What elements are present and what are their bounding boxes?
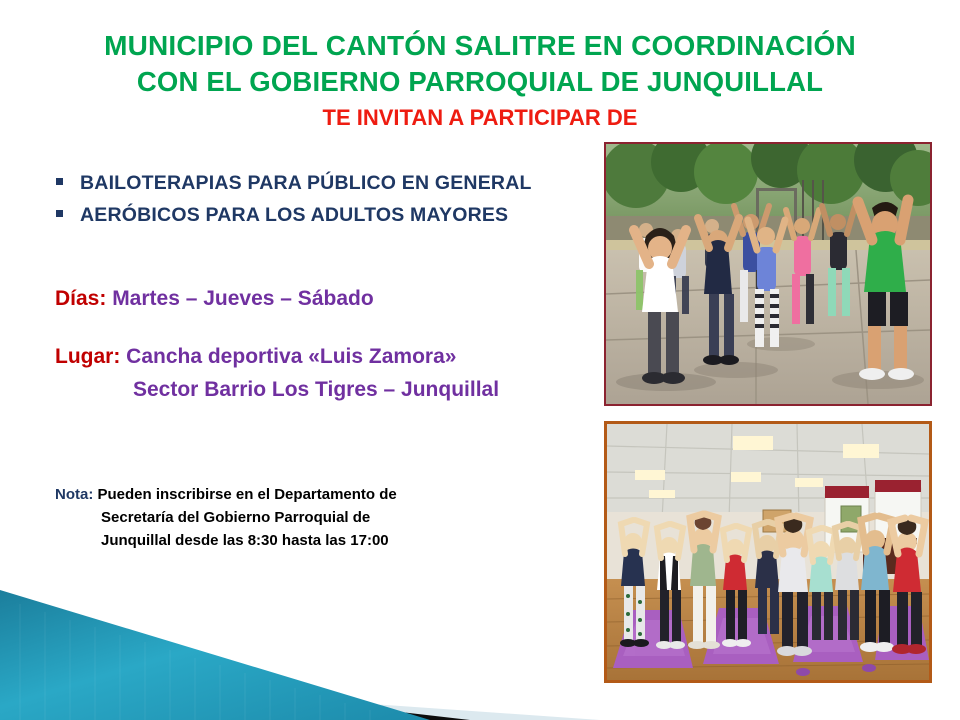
bottom-left-corner-triangles xyxy=(0,560,620,720)
place-row: Lugar: Cancha deportiva «Luis Zamora» xyxy=(55,341,595,374)
poster-subtitle: TE INVITAN A PARTICIPAR DE xyxy=(0,103,960,133)
light-stripe xyxy=(0,678,600,720)
teal-triangle xyxy=(0,590,430,720)
square-bullet-icon xyxy=(56,210,63,217)
indoor-seniors-aerobics-photo xyxy=(604,421,932,683)
poster-canvas: MUNICIPIO DEL CANTÓN SALITRE EN COORDINA… xyxy=(0,0,960,720)
place-row-secondary: Sector Barrio Los Tigres – Junquillal xyxy=(55,374,595,407)
event-details: Días: Martes – Jueves – Sábado Lugar: Ca… xyxy=(55,283,595,407)
note-line-1: Pueden inscribirse en el Departamento de xyxy=(93,486,396,503)
outdoor-dance-class-photo xyxy=(604,142,932,406)
title-line-2: CON EL GOBIERNO PARROQUIAL DE JUNQUILLAL xyxy=(0,64,960,100)
square-bullet-icon xyxy=(56,178,63,185)
note-line-2-row: Secretaría del Gobierno Parroquial de xyxy=(55,506,525,529)
activity-label: BAILOTERAPIAS PARA PÚBLICO EN GENERAL xyxy=(80,168,532,198)
note-line-2: Secretaría del Gobierno Parroquial de xyxy=(101,509,370,526)
days-row: Días: Martes – Jueves – Sábado xyxy=(55,283,595,316)
indoor-aerobics-illustration xyxy=(607,424,929,680)
black-stripe xyxy=(0,666,470,720)
note-block: Nota: Pueden inscribirse en el Departame… xyxy=(55,483,525,552)
place-label: Lugar: xyxy=(55,345,120,368)
corner-triangle-shapes xyxy=(0,560,620,720)
poster-header: MUNICIPIO DEL CANTÓN SALITRE EN COORDINA… xyxy=(0,28,960,133)
note-line-3-row: Junquillal desde las 8:30 hasta las 17:0… xyxy=(55,529,525,552)
activities-list: BAILOTERAPIAS PARA PÚBLICO EN GENERAL AE… xyxy=(56,168,596,232)
note-first-line: Nota: Pueden inscribirse en el Departame… xyxy=(55,483,525,506)
list-item: AERÓBICOS PARA LOS ADULTOS MAYORES xyxy=(56,200,596,230)
days-value: Martes – Jueves – Sábado xyxy=(106,287,373,310)
note-line-3: Junquillal desde las 8:30 hasta las 17:0… xyxy=(101,532,389,549)
outdoor-dance-class-illustration xyxy=(606,144,930,404)
note-label: Nota: xyxy=(55,486,93,503)
title-line-1: MUNICIPIO DEL CANTÓN SALITRE EN COORDINA… xyxy=(0,28,960,64)
days-label: Días: xyxy=(55,287,106,310)
activity-label: AERÓBICOS PARA LOS ADULTOS MAYORES xyxy=(80,200,508,230)
list-item: BAILOTERAPIAS PARA PÚBLICO EN GENERAL xyxy=(56,168,596,198)
place-value-line2: Sector Barrio Los Tigres – Junquillal xyxy=(133,378,499,401)
place-value: Cancha deportiva «Luis Zamora» xyxy=(120,345,456,368)
